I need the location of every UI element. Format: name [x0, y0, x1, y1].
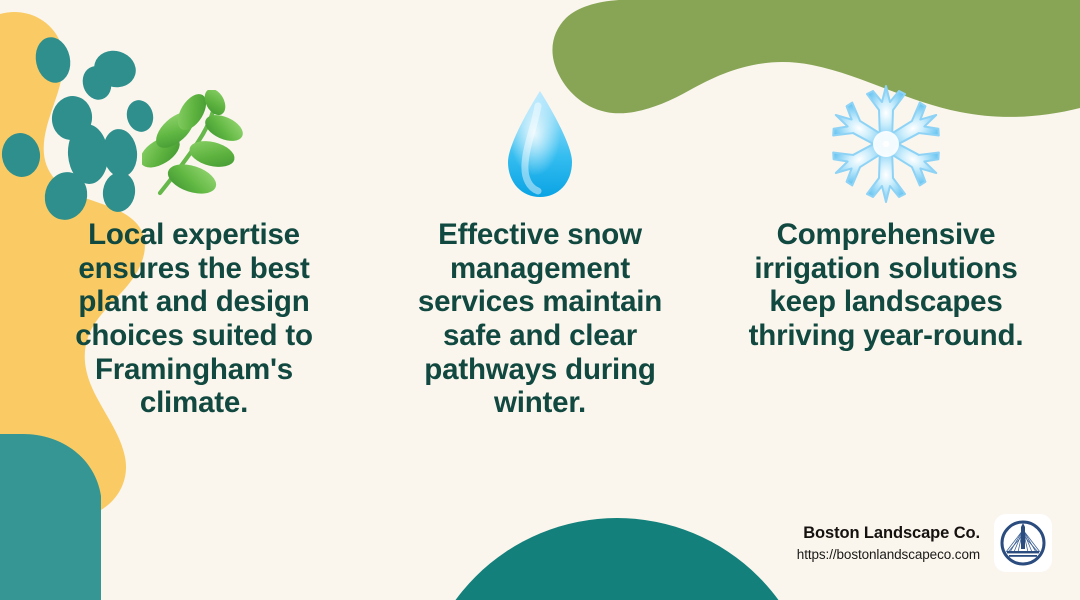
feature-text: Effective snow management services maint… [418, 218, 662, 420]
branding-text: Boston Landscape Co. https://bostonlands… [797, 525, 980, 562]
feature-text: Local expertise ensures the best plant a… [75, 218, 313, 420]
branding-block: Boston Landscape Co. https://bostonlands… [797, 514, 1052, 572]
infographic-canvas: Local expertise ensures the best plant a… [0, 0, 1080, 600]
content-layer: Local expertise ensures the best plant a… [0, 0, 1080, 600]
feature-column-irrigation: Comprehensive irrigation solutions keep … [720, 78, 1052, 353]
website-url[interactable]: https://bostonlandscapeco.com [797, 548, 980, 562]
feature-text: Comprehensive irrigation solutions keep … [749, 218, 1024, 353]
bridge-circle-logo[interactable] [994, 514, 1052, 572]
water-droplet-icon [500, 78, 580, 210]
feature-column-snow-management: Effective snow management services maint… [374, 78, 706, 420]
snowflake-icon [823, 78, 949, 210]
herb-leaf-icon [142, 78, 246, 210]
feature-column-local-expertise: Local expertise ensures the best plant a… [28, 78, 360, 420]
company-name: Boston Landscape Co. [803, 525, 980, 542]
feature-columns: Local expertise ensures the best plant a… [0, 78, 1080, 420]
